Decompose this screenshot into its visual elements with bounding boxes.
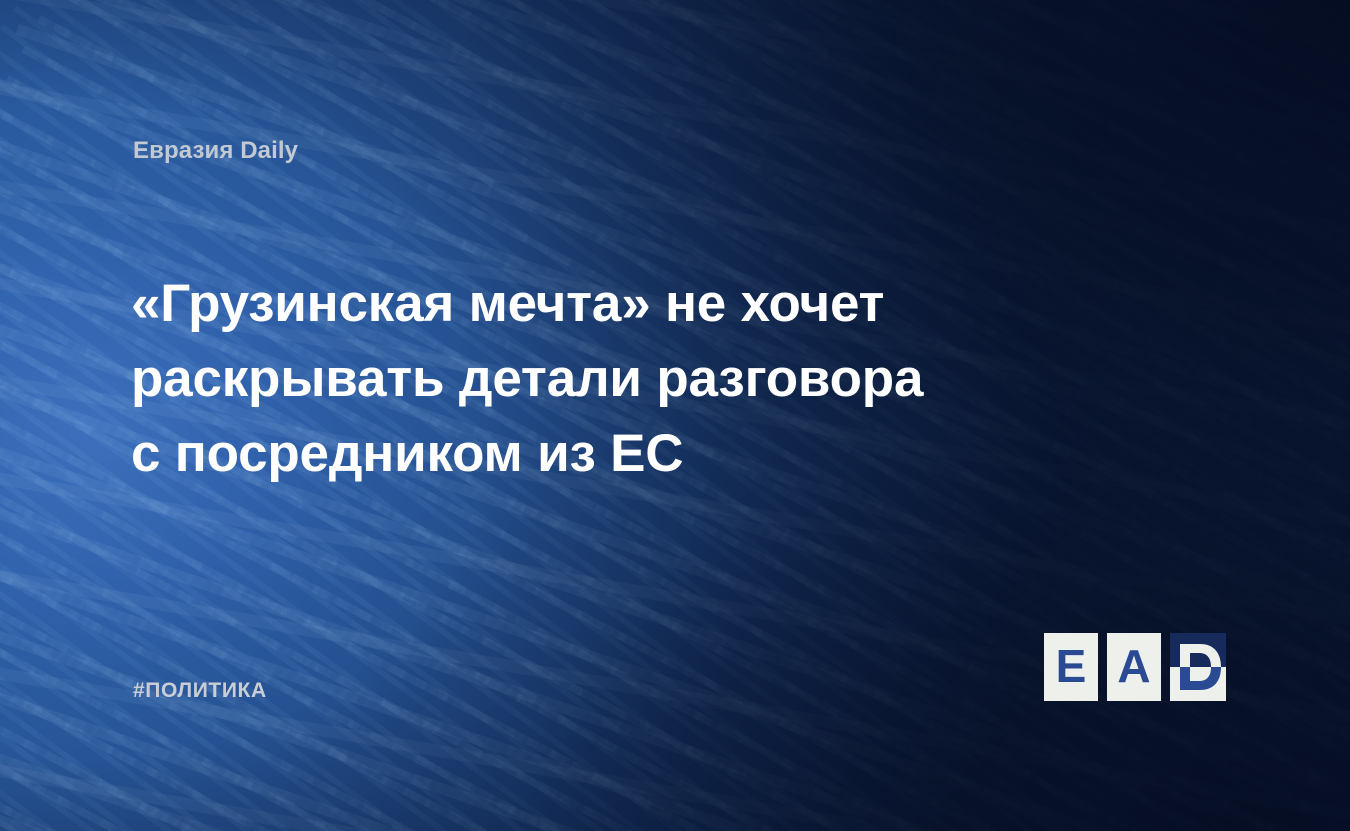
news-card: Евразия Daily «Грузинская мечта» не хоче… <box>0 0 1350 831</box>
logo-letter-e: E <box>1044 633 1098 701</box>
eadaily-logo: E A <box>1044 633 1222 701</box>
logo-tile-e: E <box>1044 633 1098 701</box>
headline: «Грузинская мечта» не хочет раскрывать д… <box>131 266 991 491</box>
headline-line-1: «Грузинская мечта» не хочет <box>131 266 991 341</box>
logo-tile-a: A <box>1107 633 1161 701</box>
logo-tile-d <box>1170 633 1226 701</box>
category-hashtag[interactable]: #ПОЛИТИКА <box>133 679 267 703</box>
logo-tile-d-bottom-half <box>1170 667 1226 701</box>
site-brand-name: Евразия Daily <box>133 137 298 165</box>
logo-tile-d-top-half <box>1170 633 1226 667</box>
headline-line-3: с посредником из ЕС <box>131 416 991 491</box>
card-content: Евразия Daily «Грузинская мечта» не хоче… <box>0 0 1350 831</box>
headline-line-2: раскрывать детали разговора <box>131 341 991 416</box>
logo-letter-a: A <box>1107 633 1161 701</box>
